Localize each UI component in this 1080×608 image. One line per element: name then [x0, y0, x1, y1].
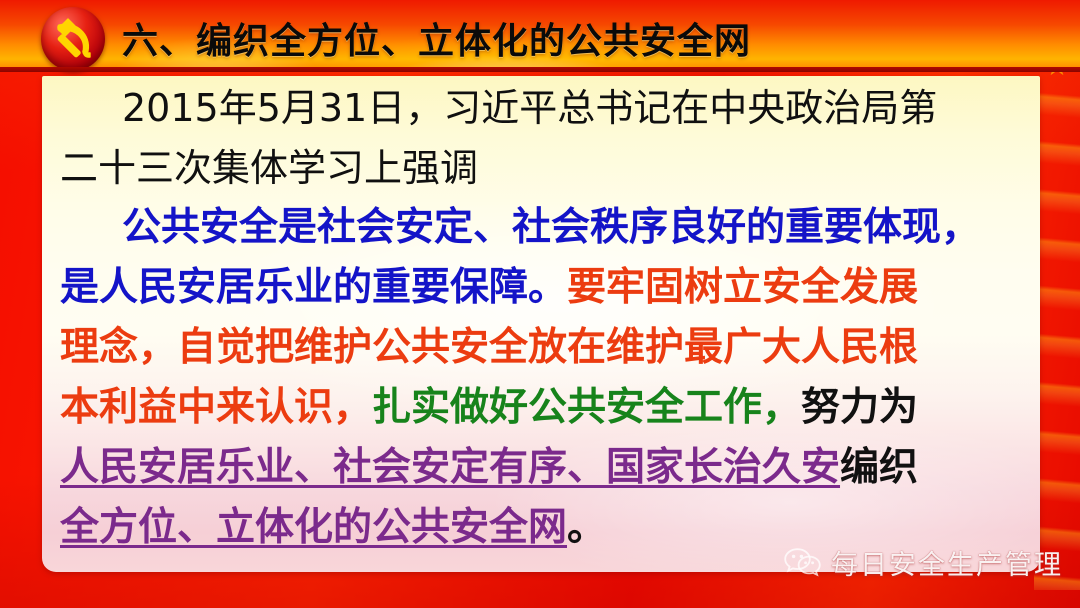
quote-text-orange: 理念，自觉把维护公共安全放在维护最广大人民根 — [60, 325, 918, 370]
quote-text-purple-underline: 全方位、立体化的公共安全网 — [60, 505, 567, 550]
quote-text-black: 努力为 — [801, 385, 918, 430]
paragraph-intro: 2015年5月31日，习近平总书记在中央政治局第 二十三次集体学习上强调 — [60, 78, 1024, 198]
slide-root: 六、编织全方位、立体化的公共安全网 2015年5月31日，习近平总书记在中央政治… — [0, 0, 1080, 608]
quote-text-orange: 本利益中来认识， — [60, 385, 372, 430]
quote-line-5: 人民安居乐业、社会安定有序、国家长治久安编织 — [60, 438, 1026, 498]
quote-text-blue: 是人民安居乐业的重要保障。 — [60, 265, 567, 310]
wechat-icon — [782, 546, 822, 578]
header-banner: 六、编织全方位、立体化的公共安全网 — [0, 0, 1080, 72]
page-title: 六、编织全方位、立体化的公共安全网 — [122, 12, 751, 64]
quote-text-green: 扎实做好公共安全工作， — [372, 385, 801, 430]
quote-line-2: 是人民安居乐业的重要保障。要牢固树立安全发展 — [60, 258, 1026, 318]
quote-text-blue: 公共安全是社会安定、社会秩序良好的重要体现， — [122, 205, 980, 250]
watermark-label: 每日安全生产管理 — [831, 543, 1063, 582]
quote-text-purple-underline: 人民安居乐业、社会安定有序、国家长治久安 — [60, 445, 840, 490]
content-panel: 2015年5月31日，习近平总书记在中央政治局第 二十三次集体学习上强调 公共安… — [42, 76, 1040, 572]
quote-text-black: 。 — [567, 505, 606, 550]
intro-line-1-text: 2015年5月31日，习近平总书记在中央政治局第 — [122, 86, 937, 130]
quote-line-3: 理念，自觉把维护公共安全放在维护最广大人民根 — [60, 318, 1026, 378]
intro-line-2: 二十三次集体学习上强调 — [60, 138, 1024, 198]
watermark: 每日安全生产管理 — [782, 540, 1063, 584]
cpc-hammer-sickle-emblem-icon — [41, 7, 105, 71]
quote-text-orange: 要牢固树立安全发展 — [567, 265, 918, 310]
quote-text-black: 编织 — [840, 445, 918, 490]
silk-streaks-decoration — [1034, 70, 1080, 590]
paragraph-quote: 公共安全是社会安定、社会秩序良好的重要体现， 是人民安居乐业的重要保障。要牢固树… — [60, 198, 1026, 558]
quote-line-4: 本利益中来认识，扎实做好公共安全工作，努力为 — [60, 378, 1026, 438]
quote-line-1: 公共安全是社会安定、社会秩序良好的重要体现， — [60, 198, 1026, 258]
intro-line-1: 2015年5月31日，习近平总书记在中央政治局第 — [60, 78, 1024, 138]
